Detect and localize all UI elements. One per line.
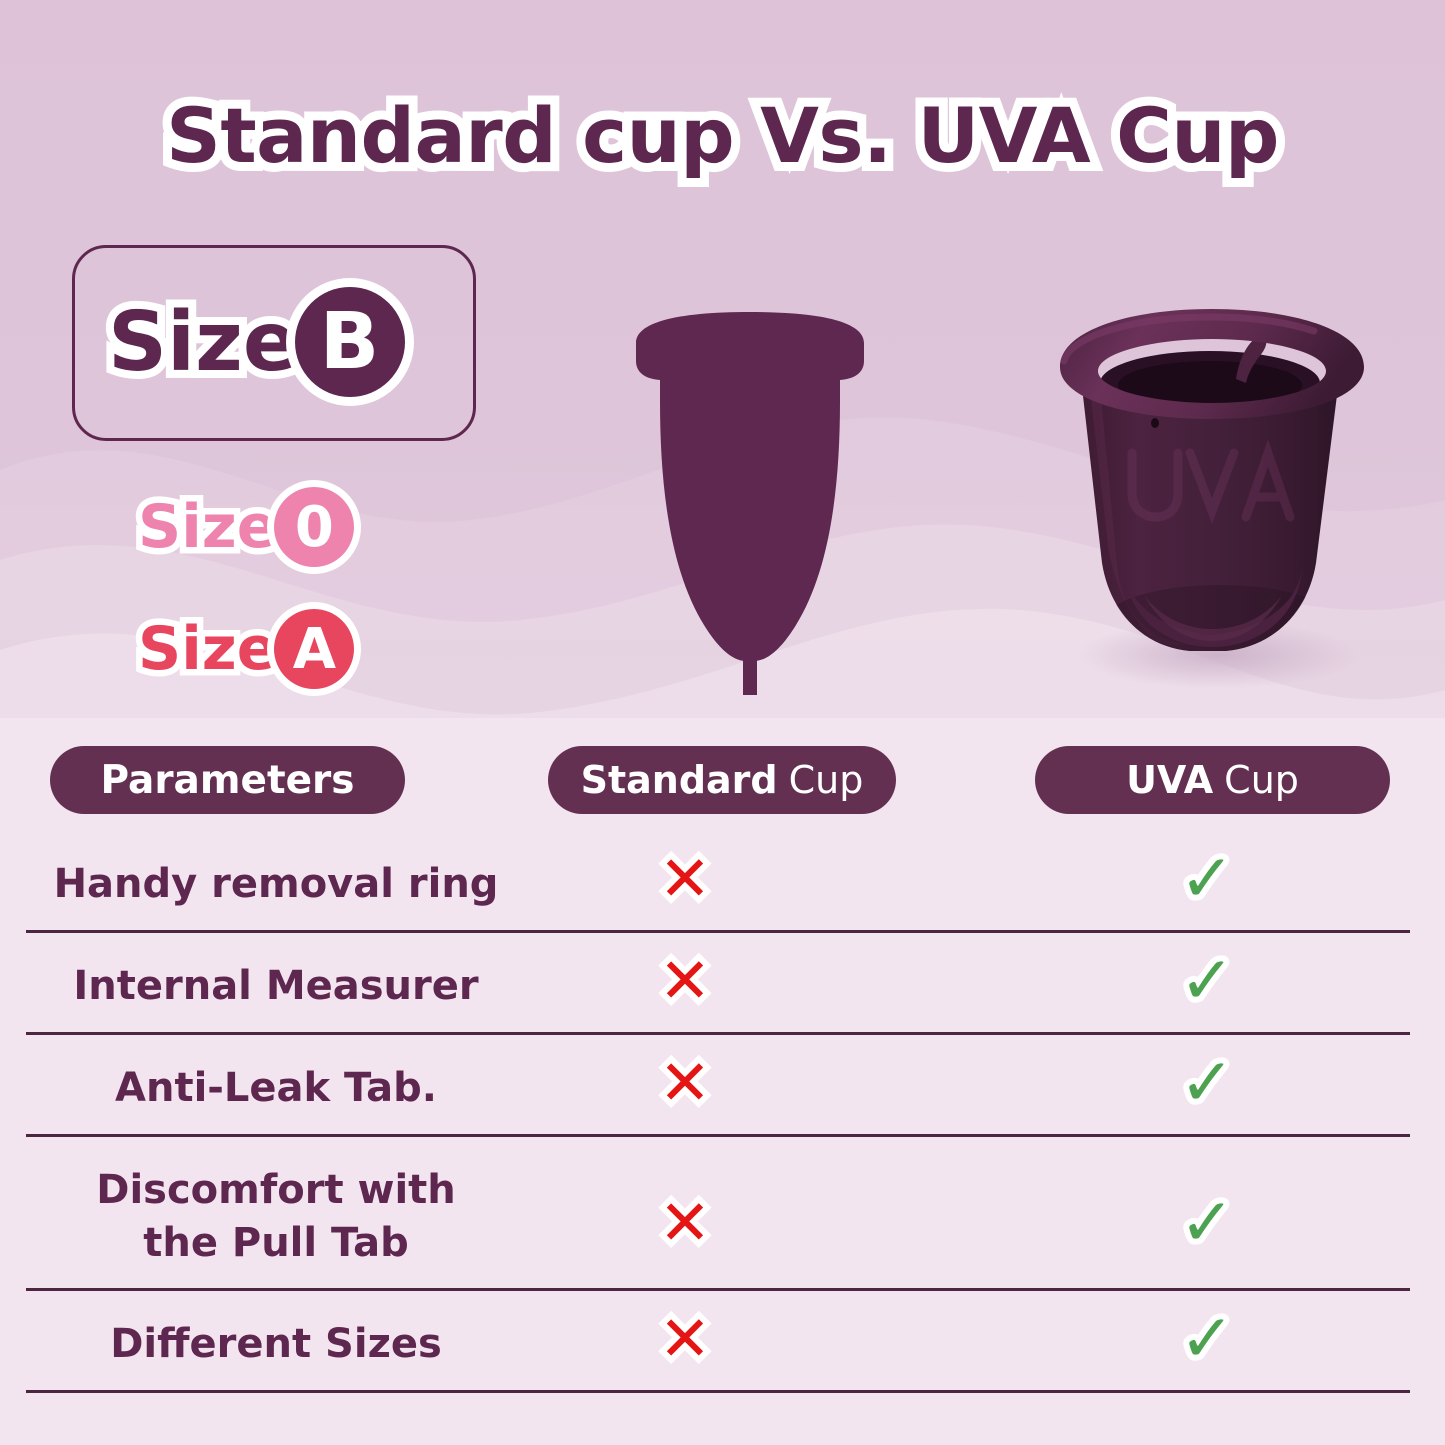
column-header-uva-light: Cup xyxy=(1224,758,1299,802)
row-4-parameter-line-1: Discomfort with xyxy=(26,1164,526,1217)
row-4-parameter-line-2: the Pull Tab xyxy=(26,1217,526,1270)
row-divider xyxy=(26,1390,1410,1393)
page-title: Standard cup Vs. UVA Cup xyxy=(166,96,1279,176)
row-2-uva-check-icon: ✓ xyxy=(1172,948,1242,1014)
size-a-letter: A xyxy=(274,609,354,689)
column-header-uva-cup: UVA Cup xyxy=(1035,746,1390,814)
size-0-word: Size xyxy=(138,492,277,562)
row-3-parameter-label: Anti-Leak Tab. xyxy=(26,1062,526,1115)
column-header-standard-light: Cup xyxy=(789,758,864,802)
column-header-parameters: Parameters xyxy=(50,746,405,814)
column-header-uva-strong: UVA xyxy=(1126,758,1213,802)
row-3-standard-cross-icon: ✕ xyxy=(650,1052,720,1114)
row-divider xyxy=(26,1288,1410,1291)
size-badge-a[interactable]: Size A xyxy=(138,609,354,689)
column-header-parameters-label: Parameters xyxy=(100,758,354,803)
row-5-parameter-label: Different Sizes xyxy=(26,1318,526,1371)
row-divider xyxy=(26,1032,1410,1035)
uva-cup-image xyxy=(1040,295,1385,695)
size-a-word: Size xyxy=(138,614,277,684)
row-1-parameter-label: Handy removal ring xyxy=(26,858,526,911)
size-b-word: Size xyxy=(108,295,299,390)
size-0-letter: 0 xyxy=(274,487,354,567)
row-divider xyxy=(26,930,1410,933)
row-3-uva-check-icon: ✓ xyxy=(1172,1050,1242,1116)
size-badge-b[interactable]: Size B xyxy=(108,287,405,397)
row-4-parameter-label: Discomfort with the Pull Tab xyxy=(26,1164,526,1270)
row-1-standard-cross-icon: ✕ xyxy=(650,848,720,910)
infographic-page: Standard cup Vs. UVA Cup Size B Size 0 S… xyxy=(0,0,1445,1445)
row-2-standard-cross-icon: ✕ xyxy=(650,950,720,1012)
row-divider xyxy=(26,1134,1410,1137)
standard-cup-image xyxy=(600,305,900,695)
row-5-standard-cross-icon: ✕ xyxy=(650,1308,720,1370)
column-header-standard-strong: Standard xyxy=(581,758,778,802)
row-2-parameter-label: Internal Measurer xyxy=(26,960,526,1013)
size-badge-0[interactable]: Size 0 xyxy=(138,487,354,567)
row-1-uva-check-icon: ✓ xyxy=(1172,846,1242,912)
row-4-uva-check-icon: ✓ xyxy=(1172,1190,1242,1256)
row-5-uva-check-icon: ✓ xyxy=(1172,1306,1242,1372)
column-header-standard-cup: Standard Cup xyxy=(548,746,896,814)
page-title-container: Standard cup Vs. UVA Cup xyxy=(0,96,1445,176)
size-b-letter: B xyxy=(295,287,405,397)
row-4-standard-cross-icon: ✕ xyxy=(650,1192,720,1254)
